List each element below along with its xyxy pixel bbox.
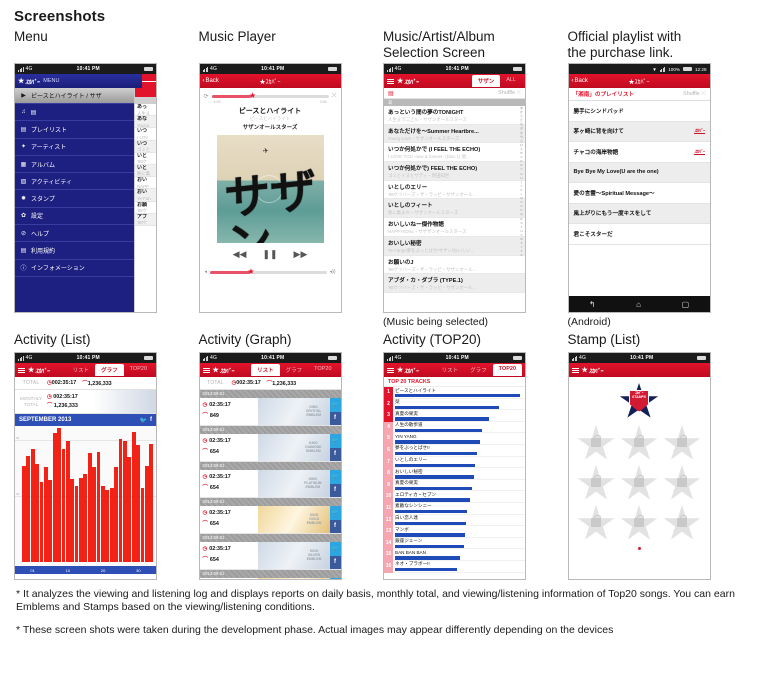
sidebar-item-playlist[interactable]: ▤ プレイリスト [15, 121, 134, 138]
top20-row[interactable]: 2栞 [384, 399, 525, 411]
sidebar-item-label: アクティビティ [31, 177, 72, 186]
volume-knob-star-icon[interactable]: ★ [247, 268, 254, 276]
tab-top20[interactable]: TOP20 [124, 364, 153, 376]
volume-high-icon: ◂)) [330, 269, 336, 275]
peek-sub: '98ケ [137, 208, 154, 214]
track-title: ピースとハイライト [395, 387, 525, 394]
grid-view-icon[interactable]: ▤ [388, 90, 394, 97]
monthly-count: 1,236,333 [54, 403, 78, 409]
column-activity-graph: Activity (Graph) 4G 10:41 PM ★ｽｶﾊﾟｰ [199, 332, 384, 580]
peek-row[interactable]: アブ '98ケ [135, 214, 156, 226]
time-total: 0:56 [320, 100, 327, 104]
phone-music-player: 4G 10:41 PM ‹ Back ★ｽｶﾊﾟｰ ⟳ [199, 63, 342, 313]
bar [395, 510, 467, 513]
list-item[interactable]: あなただけを〜Summer Heartbre... Young Love・サザン… [384, 125, 525, 144]
sidebar-item-music[interactable]: ♫ ▤ [15, 104, 134, 121]
activity-icon: ▨ [20, 178, 27, 185]
song-title: あなただけを〜Summer Heartbre... [388, 127, 515, 135]
peek-row[interactable]: いと 熱に集 [135, 165, 156, 177]
list-item[interactable]: いつか何処かで) FEEL THE ECHO) ゴミとイヌとサディ・原田知世 [384, 162, 525, 181]
sidebar-item-information[interactable]: ⓘ インフォメーション [15, 260, 134, 277]
back-button[interactable]: ‹ Back [203, 78, 219, 84]
x-tick-label: 10 [66, 568, 70, 573]
help-icon: ⊘ [20, 230, 27, 237]
playlist-item-title: チャコの海岸物語 [574, 148, 619, 156]
activity-tabs: リスト グラフ TOP20 [436, 364, 522, 376]
brand-word: ｽｶﾊﾟｰ [25, 77, 39, 86]
transport-controls: ◀◀ ❚❚ ▶▶ [200, 243, 341, 265]
track-title: 夢をぶっとばせ!! [395, 445, 525, 452]
network-label: 4G [210, 355, 217, 361]
twitter-icon[interactable]: 🐦 [330, 398, 341, 412]
purchase-link-badge[interactable]: ｽｶﾊﾟｰ [694, 128, 704, 134]
network-label: 4G [210, 66, 217, 72]
daily-bar-chart: 60 30 [15, 426, 156, 566]
peek-navbar [135, 88, 156, 97]
seek-knob-star-icon[interactable]: ★ [249, 92, 256, 100]
bird-icon: ✈ [262, 147, 269, 156]
earned-emblem[interactable]: ｽｶﾊﾟｰ STAMPS [619, 383, 659, 421]
date-header: 2013.09.01 [200, 462, 341, 470]
sidebar-item-label: スタンプ [31, 194, 55, 203]
facebook-icon[interactable]: f [150, 417, 152, 424]
prev-icon[interactable]: ◀◀ [233, 249, 247, 260]
emblem-thumbnail[interactable]: KINGPLATINUMEMBLEM [258, 470, 330, 497]
activity-navbar: ★ｽｶﾊﾟｰ リスト グラフ TOP20 [15, 363, 156, 377]
twitter-icon[interactable]: 🐦 [330, 542, 341, 556]
star-icon: ★ [259, 80, 265, 86]
star-icon: ★ [213, 367, 219, 374]
artist-icon: ✦ [20, 143, 27, 150]
top20-row[interactable]: 14銀座ジェーン [384, 538, 525, 550]
x-axis: 01102030 [15, 566, 156, 574]
bar [395, 545, 464, 548]
activity-values: ◷02:35:17⌒849 [200, 398, 258, 425]
twitter-icon[interactable]: 🐦 [330, 470, 341, 484]
peek-title: おい [137, 177, 147, 183]
facebook-icon[interactable]: f [330, 484, 341, 498]
table-row[interactable]: ◷02:35:17⌒849KINGCRYSTALEMBLEM🐦f [200, 398, 341, 426]
top20-row[interactable]: 8おいしい秘密 [384, 468, 525, 480]
shuffle-icon[interactable]: ⤫ [332, 93, 337, 100]
activity-row-list: 2013.09.01◷02:35:17⌒849KINGCRYSTALEMBLEM… [200, 390, 341, 580]
month-bar: SEPTEMBER 2013 🐦 f [15, 414, 156, 426]
twitter-icon[interactable]: 🐦 [330, 506, 341, 520]
column-heading-line2: Selection Screen [383, 45, 568, 61]
sidebar-item-activity[interactable]: ▨ アクティビティ [15, 173, 134, 190]
list-item[interactable]: チャコの海岸物語 ｽｶﾊﾟｰ [569, 142, 710, 163]
top20-row[interactable]: 10エロティカ・セブン [384, 491, 525, 503]
earned-emblem-wrap: ｽｶﾊﾟｰ STAMPS [569, 383, 710, 421]
table-row[interactable]: ◷02:35:17⌒654KINGSILVEREMBLEM🐦f [200, 542, 341, 570]
note-icon: ♫ [20, 109, 27, 115]
sidebar-item-artist[interactable]: ✦ アーティスト [15, 139, 134, 156]
activity-tabs: リスト グラフ TOP20 [67, 364, 153, 376]
song-artist: '98ケツバーズ・ザ・ラッピ・サザンオール... [388, 267, 515, 273]
app-logo: ★ｽｶﾊﾟｰ [397, 366, 418, 375]
bar [395, 475, 474, 478]
emblem-caption: KINGCRYSTALEMBLEM [306, 405, 322, 418]
column-heading-line2: the purchase link. [568, 45, 753, 61]
section-header: あ [384, 99, 525, 106]
tab-graph[interactable]: グラフ [464, 364, 493, 376]
phone-top20: 4G 10:41 PM ★ｽｶﾊﾟｰ リスト グラフ TOP20 [383, 352, 526, 580]
bar [57, 428, 61, 562]
song-artist: 人生まで二上ル・サザンオールスターズ [388, 117, 515, 123]
stamp-icon: ✹ [20, 195, 27, 202]
back-button[interactable]: ‹ Back [572, 78, 588, 84]
list-item[interactable]: おいしい秘密 Ye Fang!!夢をぶっとばせ!サザン/おいしい... [384, 237, 525, 256]
bar [395, 568, 457, 571]
column-playlist: Official playlist with the purchase link… [568, 29, 753, 328]
emblem-thumbnail[interactable] [258, 578, 330, 580]
network-label: 4G [395, 355, 402, 361]
purchase-link-badge[interactable]: ｽｶﾊﾟｰ [694, 149, 704, 155]
activity-values: ◷02:35:17⌒654 [200, 506, 258, 533]
tab-list[interactable]: リスト [251, 364, 280, 376]
peek-row[interactable]: いつ ゴミと [135, 141, 156, 153]
battery-icon [683, 67, 692, 71]
volume-slider[interactable]: ★ [210, 271, 327, 274]
list-item[interactable]: いつか何処かで (I FEEL THE ECHO) I LOVE YOU -no… [384, 143, 525, 162]
activity-time: ◷02:35:17 [203, 544, 258, 555]
status-bar: 4G 10:41 PM [15, 353, 156, 363]
bar [22, 466, 26, 562]
peek-sectionhead [135, 97, 156, 104]
bar [127, 457, 131, 562]
date-header: 2013.09.01 [200, 390, 341, 398]
bar [44, 467, 48, 562]
signal-bars-icon [18, 67, 24, 72]
peek-sub: NAPP [137, 184, 154, 190]
song-title: ピースとハイライト [200, 106, 341, 116]
menu-peek-panel[interactable]: あっ 人生ま あな Young いつ I LOV いつ [134, 88, 156, 313]
locked-stamp[interactable] [620, 465, 658, 503]
tab-graph[interactable]: グラフ [95, 364, 124, 376]
bar [149, 444, 153, 562]
seek-slider[interactable]: ★ 4:08 0:56 [212, 95, 329, 98]
top20-row[interactable]: 3真夏の果実 [384, 410, 525, 422]
track-title: エロティカ・セブン [395, 491, 525, 498]
top20-row[interactable]: 1ピースとハイライト [384, 387, 525, 399]
back-icon[interactable]: ↰ [589, 300, 596, 309]
activity-values: ◷02:35:17⌒654 [200, 542, 258, 569]
page-dot[interactable] [638, 547, 641, 550]
song-title: おいしい秘密 [388, 239, 515, 247]
pause-icon[interactable]: ❚❚ [262, 249, 277, 260]
star-icon: ★ [582, 367, 588, 374]
list-item[interactable]: いとしのエリー '98ケツバーズ・ザ・ラッピ・サザンオール... [384, 181, 525, 200]
hamburger-icon[interactable] [387, 79, 394, 84]
peek-row[interactable]: おい NAPP [135, 177, 156, 189]
locked-stamp[interactable] [663, 505, 701, 543]
peek-row[interactable]: あっ 人生ま [135, 104, 156, 116]
alphabet-index[interactable]: あかさたなはまやらわABCDEFGHIJKLMNOPQRSTUVWXYZ# [518, 106, 525, 257]
bar [114, 467, 118, 562]
bar [136, 445, 140, 562]
playlist-title-bar: 「湘南」のプレイリスト Shuffle ⤫ [569, 88, 710, 101]
list-item[interactable]: おいしいねー傑作物語 HAPPY!!Disc・ササザンオールスターズ [384, 218, 525, 237]
column-menu: Menu 4G 10:41 PM ★ ｽｶﾊﾟｰ MENU [14, 29, 199, 328]
rank-badge: 2 [384, 399, 393, 411]
status-bar: 4G 10:41 PM [384, 353, 525, 363]
facebook-icon[interactable]: f [330, 412, 341, 426]
selection-shuffle-bar: ▤ Shuffle ⤫ [384, 88, 525, 99]
hamburger-icon[interactable] [18, 368, 25, 373]
list-item[interactable]: 勝手にシンドバッド [569, 101, 710, 122]
top20-row[interactable]: 11素敵なシンシニー [384, 503, 525, 515]
column-stamp: Stamp (List) 4G 10:41 PM ★ｽｶﾊﾟｰ [568, 332, 753, 580]
bar [75, 486, 79, 562]
locked-stamp[interactable] [663, 425, 701, 463]
tab-top20[interactable]: TOP20 [308, 364, 337, 376]
emblem-label-line2: STAMPS [630, 395, 648, 399]
playlist-item-title: Bye Bye My Love(U are the one) [574, 169, 659, 175]
song-artist: I LOVE YOU -now & forever- (Disc 1) 他... [388, 154, 515, 160]
brand-word: ｽｶﾊﾟｰ [404, 77, 418, 86]
top20-row[interactable]: 13マンボ [384, 526, 525, 538]
next-icon[interactable]: ▶▶ [294, 249, 308, 260]
column-music-player: Music Player 4G 10:41 PM ‹ Back ★ｽｶﾊﾟｰ [199, 29, 384, 328]
shuffle-button[interactable]: Shuffle ⤫ [683, 91, 706, 98]
twitter-icon[interactable]: 🐦 [140, 417, 147, 424]
total-count: 1,236,333 [88, 381, 112, 387]
activity-navbar: ★ｽｶﾊﾟｰ リスト グラフ TOP20 [200, 363, 341, 377]
battery-icon [697, 356, 706, 360]
peek-sub: 熱に集 [137, 171, 154, 177]
bar [123, 441, 127, 562]
rank-badge: 10 [384, 491, 393, 503]
track-title: マンボ [395, 526, 525, 533]
monthly-total-values: ◷ 002:35:17 ⌒ 1,236,333 [47, 393, 156, 411]
activity-count: ⌒654 [203, 555, 258, 566]
activity-tabs: リスト グラフ TOP20 [251, 364, 337, 376]
lock-icon [634, 518, 644, 527]
sidebar-item-stamp[interactable]: ✹ スタンプ [15, 190, 134, 207]
track-title: YIN YANG [395, 433, 525, 440]
shuffle-button[interactable]: Shuffle ⤫ [498, 90, 521, 97]
volume-fill [210, 271, 250, 274]
album-artwork[interactable]: ✈ サザン [217, 135, 324, 243]
tab-all[interactable]: ALL [500, 75, 522, 87]
screenshot-row-2: Activity (List) 4G 10:41 PM ★ｽｶﾊﾟｰ [14, 332, 752, 580]
emblem-caption: KINGPLATINUMEMBLEM [304, 477, 321, 490]
stamp-body: ｽｶﾊﾟｰ STAMPS [569, 377, 710, 580]
total-label: TOTAL [200, 380, 232, 386]
sidebar-item-settings[interactable]: ✿ 設定 [15, 208, 134, 225]
activity-values: ◷02:35:17 [200, 578, 258, 580]
status-time: 10:41 PM [261, 66, 284, 72]
top20-row[interactable]: 7いとしのエリー [384, 457, 525, 469]
list-item[interactable]: 君こそスターだ [569, 224, 710, 245]
status-signal: 4G [203, 66, 218, 72]
network-label: 4G [26, 66, 33, 72]
star-icon: ★ [628, 80, 634, 86]
star-icon: ★ [397, 78, 403, 85]
tab-sazan[interactable]: サザン [472, 75, 501, 87]
locked-stamp[interactable] [620, 505, 658, 543]
list-item[interactable]: アブダ・カ・ダブラ (TYPE.1) '98ケツバーズ・ザ・ラッピ・サザンオール… [384, 274, 525, 293]
facebook-icon[interactable]: f [330, 448, 341, 462]
list-item[interactable]: 愛の言霊〜Spiritual Message〜 [569, 183, 710, 204]
table-row[interactable]: ◷02:35:17🐦f [200, 578, 341, 580]
locked-stamp[interactable] [577, 465, 615, 503]
list-item[interactable]: 風上がりにもう一度キスをして [569, 204, 710, 225]
facebook-icon[interactable]: f [330, 520, 341, 534]
table-row[interactable]: ◷02:35:17⌒654KINGGOLDEMBLEM🐦f [200, 506, 341, 534]
tab-list[interactable]: リスト [436, 364, 465, 376]
peek-row[interactable]: あな Young [135, 116, 156, 128]
peek-title: あっ [137, 104, 147, 110]
table-row[interactable]: ◷02:35:17⌒654KINGDIAMONDEMBLEM🐦f [200, 434, 341, 462]
facebook-icon[interactable]: f [330, 556, 341, 570]
top20-row[interactable]: 5YIN YANG [384, 433, 525, 445]
date-header: 2013.09.01 [200, 498, 341, 506]
battery-icon [513, 67, 522, 71]
song-list: あっという間の夢のTONIGHT 人生まで二上ル・サザンオールスターズ あなただ… [384, 106, 525, 293]
column-heading-playlist: Official playlist with the purchase link… [568, 29, 753, 63]
peek-title: おい [137, 189, 147, 195]
brand-word: ｽｶﾊﾟｰ [266, 80, 281, 86]
stamp-navbar: ★ｽｶﾊﾟｰ [569, 363, 710, 377]
status-time: 12:28 [695, 67, 707, 72]
status-signal: 4G [387, 355, 402, 361]
signal-bars-icon [203, 67, 209, 72]
list-item[interactable]: あっという間の夢のTONIGHT 人生まで二上ル・サザンオールスターズ [384, 106, 525, 125]
phone-playlist: ▼ 100% 12:28 ‹ Back ★ｽｶﾊﾟｰ 「湘南」のプレイリスト S… [568, 63, 711, 313]
lock-icon [591, 478, 601, 487]
sidebar-item-terms[interactable]: ▤ 利用規約 [15, 242, 134, 259]
list-item[interactable]: Bye Bye My Love(U are the one) [569, 163, 710, 184]
twitter-icon[interactable]: 🐦 [330, 434, 341, 448]
peek-row[interactable]: おい Ye Fan [135, 189, 156, 201]
twitter-icon[interactable]: 🐦 [330, 578, 341, 580]
track-title: 栞 [395, 399, 525, 406]
network-label: 4G [26, 355, 33, 361]
song-title: いとしのフィート [388, 201, 515, 209]
locked-stamp[interactable] [620, 425, 658, 463]
app-logo: ★ｽｶﾊﾟｰ [397, 77, 418, 86]
recents-icon[interactable]: ▢ [682, 300, 690, 309]
brand-word: ｽｶﾊﾟｰ [404, 366, 418, 375]
signal-bars-icon [572, 356, 578, 361]
status-bar: 4G 10:41 PM [200, 353, 341, 363]
total-time: 002:35:17 [52, 380, 77, 386]
locked-stamp[interactable] [663, 465, 701, 503]
status-time: 10:41 PM [446, 66, 469, 72]
sidebar-item-label: ヘルプ [31, 229, 49, 238]
sidebar-item-help[interactable]: ⊘ ヘルプ [15, 225, 134, 242]
bar [66, 441, 70, 562]
tab-top20[interactable]: TOP20 [493, 364, 522, 376]
lock-icon [591, 518, 601, 527]
total-row: TOTAL ◷002:35:17 ⌒1,236,333 [200, 377, 341, 390]
tab-graph[interactable]: グラフ [280, 364, 309, 376]
rank-badge: 15 [384, 549, 393, 561]
footnote-1: * It analyzes the viewing and listening … [16, 588, 752, 614]
bar [395, 522, 466, 525]
hamburger-icon[interactable] [142, 74, 156, 88]
track-title: おいしい秘密 [395, 468, 525, 475]
sidebar-item-album[interactable]: ▦ アルバム [15, 156, 134, 173]
lock-icon [634, 438, 644, 447]
locked-stamp[interactable] [577, 425, 615, 463]
activity-values: ◷02:35:17⌒654 [200, 470, 258, 497]
list-item[interactable]: 茅ヶ崎に背を向けて ｽｶﾊﾟｰ [569, 122, 710, 143]
hamburger-icon[interactable] [203, 368, 210, 373]
playlist-icon: ▤ [20, 126, 27, 133]
song-title: いつか何処かで (I FEEL THE ECHO) [388, 145, 515, 153]
signal-bars-icon [18, 356, 24, 361]
signal-bars-icon [660, 67, 666, 72]
playlist-item-title: 勝手にシンドバッド [574, 107, 624, 115]
track-title: ネオ・ブラボー!! [395, 561, 525, 568]
table-row[interactable]: ◷02:35:17⌒654KINGPLATINUMEMBLEM🐦f [200, 470, 341, 498]
date-header: 2013.09.01 [200, 570, 341, 578]
peek-row[interactable]: お願 '98ケ [135, 202, 156, 214]
song-title: いつか何処かで) FEEL THE ECHO) [388, 164, 515, 172]
share-buttons: 🐦f [330, 542, 341, 569]
top20-row[interactable]: 9真夏の果実 [384, 480, 525, 492]
top20-row[interactable]: 16ネオ・ブラボー!! [384, 561, 525, 573]
now-playing-row[interactable]: ▶ ピースとハイライト / サザ [15, 88, 134, 104]
top20-row[interactable]: 4人生の散歩道 [384, 422, 525, 434]
peek-row[interactable]: いと '98ケ [135, 153, 156, 165]
emblem-thumbnail[interactable]: KINGDIAMONDEMBLEM [258, 434, 330, 461]
activity-time: ◷02:35:17 [203, 436, 258, 447]
home-icon[interactable]: ⌂ [636, 300, 641, 309]
alpha-index-letter[interactable]: # [521, 253, 523, 257]
share-buttons: 🐦f [330, 506, 341, 533]
hamburger-icon[interactable] [387, 368, 394, 373]
locked-stamp[interactable] [577, 505, 615, 543]
month-label: SEPTEMBER 2013 [19, 417, 71, 423]
song-artist: '98ケツバーズ・ザ・ラッピ・サザンオール... [388, 285, 515, 291]
column-heading-activity-list: Activity (List) [14, 332, 199, 352]
column-heading-line1: Music/Artist/Album [383, 29, 568, 45]
battery-icon [144, 356, 153, 360]
repeat-icon[interactable]: ⟳ [204, 93, 209, 100]
peek-row[interactable]: いつ I LOV [135, 128, 156, 140]
back-label: Back [206, 78, 219, 84]
emblem-thumbnail[interactable]: KINGSILVEREMBLEM [258, 542, 330, 569]
headphone-icon: ⌒ [47, 403, 52, 409]
bar [97, 452, 101, 562]
clock-icon: ◷ [203, 472, 208, 483]
top20-row[interactable]: 6夢をぶっとばせ!! [384, 445, 525, 457]
activity-time: ◷02:35:17 [203, 508, 258, 519]
peek-title: お願 [137, 202, 147, 208]
list-item[interactable]: いとしのフィート 熱に集まれ・サザンオールスターズ [384, 199, 525, 218]
emblem-thumbnail[interactable]: KINGGOLDEMBLEM [258, 506, 330, 533]
song-artist: サザンオールスターズ [200, 123, 341, 131]
track-title: いとしのエリー [395, 457, 525, 464]
hamburger-icon[interactable] [572, 368, 579, 373]
activity-count: ⌒654 [203, 519, 258, 530]
playlist-item-title: 茅ヶ崎に背を向けて [574, 127, 624, 135]
phone-activity-list: 4G 10:41 PM ★ｽｶﾊﾟｰ リスト グラフ TOP20 [199, 352, 342, 580]
bar [31, 449, 35, 562]
list-item[interactable]: お願いのJ '98ケツバーズ・ザ・ラッピ・サザンオール... [384, 256, 525, 275]
top20-row[interactable]: 12白い恋人達 [384, 515, 525, 527]
play-icon: ▶ [20, 92, 27, 99]
song-title: あっという間の夢のTONIGHT [388, 108, 515, 116]
top20-row[interactable]: 15BAN BAN BAN [384, 549, 525, 561]
rank-badge: 7 [384, 457, 393, 469]
emblem-thumbnail[interactable]: KINGCRYSTALEMBLEM [258, 398, 330, 425]
tab-list[interactable]: リスト [67, 364, 96, 376]
bar [395, 556, 460, 559]
